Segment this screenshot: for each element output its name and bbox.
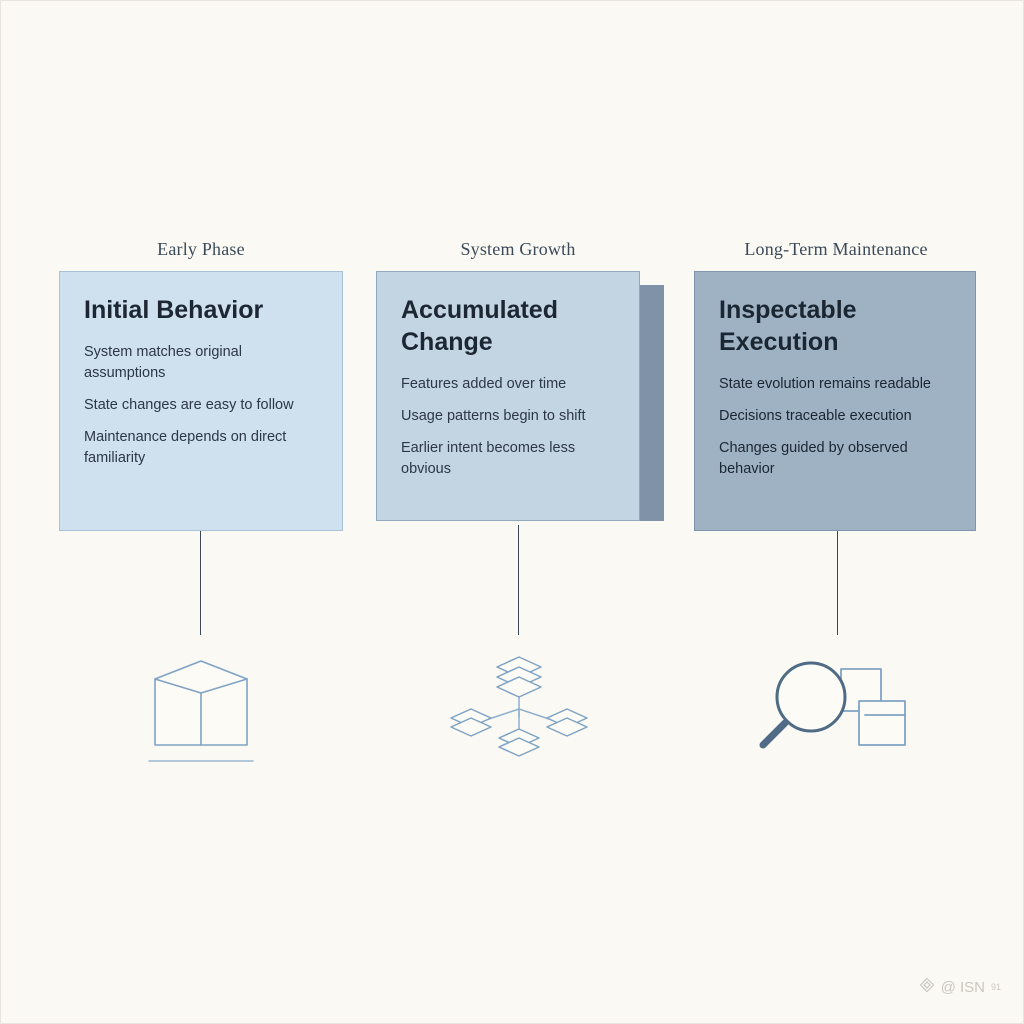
list-item: State evolution remains readable (719, 374, 951, 395)
list-item: Features added over time (401, 374, 615, 395)
list-item: Changes guided by observed behavior (719, 438, 951, 480)
network-nodes-icon (433, 651, 605, 771)
list-item: System matches original assumptions (84, 342, 318, 384)
watermark: @ ISN91 (919, 977, 1001, 997)
list-item: Maintenance depends on direct familiarit… (84, 427, 318, 469)
connector-line-2 (518, 525, 519, 635)
diagram-canvas: Early Phase Initial Behavior System matc… (0, 0, 1024, 1024)
card-inspectable-execution: Inspectable Execution State evolution re… (694, 271, 976, 531)
watermark-text: @ ISN (941, 979, 985, 996)
list-item: Decisions traceable execution (719, 406, 951, 427)
column-header-system-growth: System Growth (376, 239, 660, 260)
magnifier-boxes-icon (749, 649, 921, 773)
column-header-long-term-maintenance: Long-Term Maintenance (694, 239, 978, 260)
card-title: Inspectable Execution (719, 294, 951, 358)
card-title: Initial Behavior (84, 294, 318, 326)
card-bullet-list: Features added over time Usage patterns … (401, 374, 615, 480)
card-accumulated-change: Accumulated Change Features added over t… (376, 271, 640, 521)
list-item: Usage patterns begin to shift (401, 406, 615, 427)
list-item: State changes are easy to follow (84, 395, 318, 416)
connector-line-3 (837, 531, 838, 635)
card-initial-behavior: Initial Behavior System matches original… (59, 271, 343, 531)
connector-line-1 (200, 531, 201, 635)
list-item: Earlier intent becomes less obvious (401, 438, 615, 480)
box-icon (141, 649, 261, 773)
card-bullet-list: State evolution remains readable Decisio… (719, 374, 951, 480)
card-title: Accumulated Change (401, 294, 615, 358)
watermark-superscript: 91 (991, 982, 1001, 992)
column-header-early-phase: Early Phase (59, 239, 343, 260)
diamond-icon (919, 977, 935, 997)
card-bullet-list: System matches original assumptions Stat… (84, 342, 318, 469)
